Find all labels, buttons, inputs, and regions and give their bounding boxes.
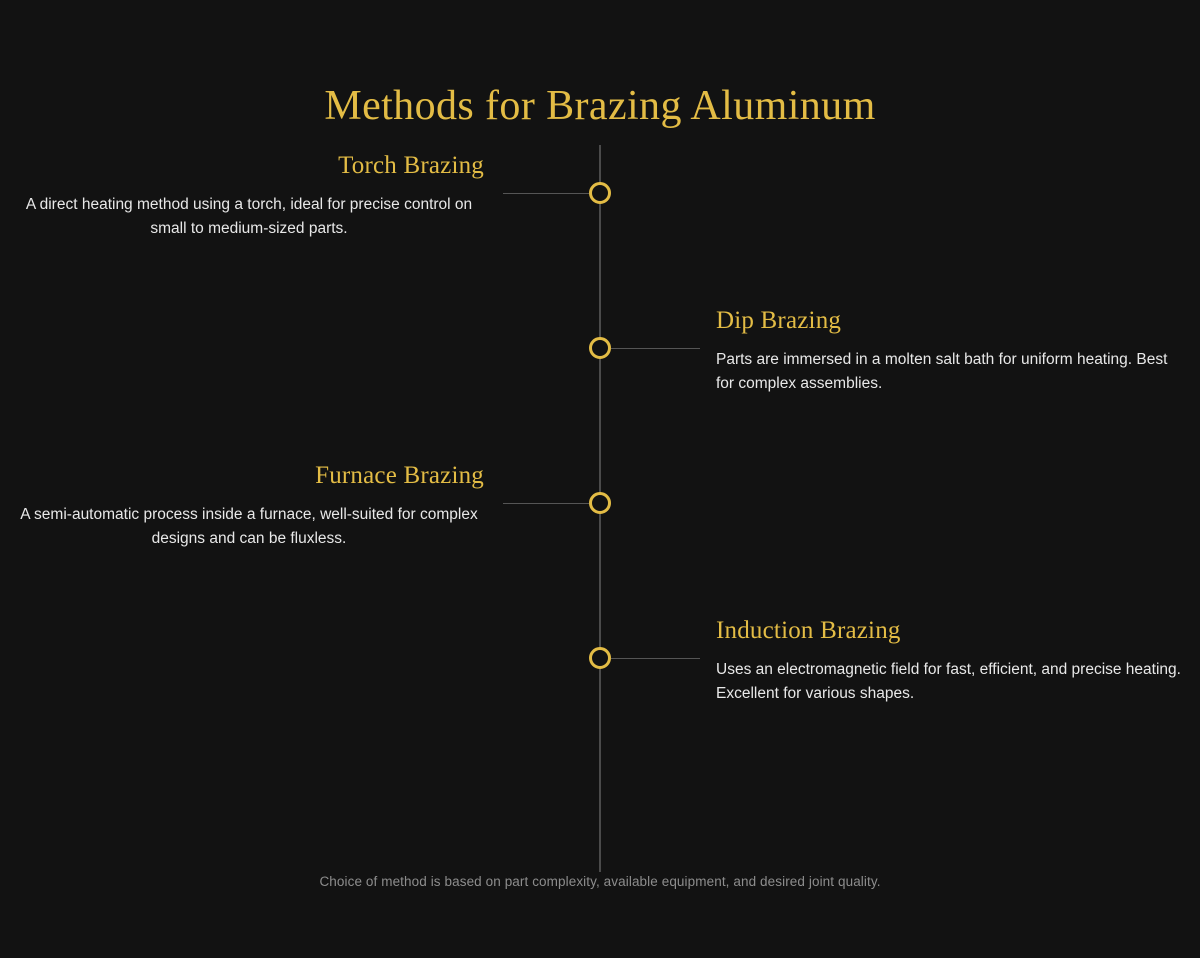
timeline-node-1[interactable] xyxy=(589,182,611,204)
timeline-node-2[interactable] xyxy=(589,337,611,359)
timeline-node-4[interactable] xyxy=(589,647,611,669)
timeline-entry-1-heading: Torch Brazing xyxy=(14,152,484,180)
timeline-connector-2 xyxy=(611,348,700,349)
timeline-entry-3-heading: Furnace Brazing xyxy=(14,462,484,490)
timeline-entry-2: Dip Brazing Parts are immersed in a molt… xyxy=(716,307,1186,396)
timeline-entry-4-body: Uses an electromagnetic field for fast, … xyxy=(716,658,1186,706)
timeline-entry-2-body: Parts are immersed in a molten salt bath… xyxy=(716,348,1186,396)
timeline-entry-3-body: A semi-automatic process inside a furnac… xyxy=(14,503,484,551)
timeline-entry-4-heading: Induction Brazing xyxy=(716,617,1186,645)
timeline-connector-3 xyxy=(503,503,589,504)
footer-note: Choice of method is based on part comple… xyxy=(0,874,1200,889)
timeline-node-3[interactable] xyxy=(589,492,611,514)
timeline-entry-2-heading: Dip Brazing xyxy=(716,307,1186,335)
page-title: Methods for Brazing Aluminum xyxy=(0,82,1200,130)
infographic-canvas: Methods for Brazing Aluminum Torch Brazi… xyxy=(0,0,1200,958)
timeline-entry-3: Furnace Brazing A semi-automatic process… xyxy=(14,462,484,551)
timeline-entry-1-body: A direct heating method using a torch, i… xyxy=(14,193,484,241)
timeline-entry-4: Induction Brazing Uses an electromagneti… xyxy=(716,617,1186,706)
timeline-connector-4 xyxy=(611,658,700,659)
timeline-entry-1: Torch Brazing A direct heating method us… xyxy=(14,152,484,241)
timeline-connector-1 xyxy=(503,193,589,194)
